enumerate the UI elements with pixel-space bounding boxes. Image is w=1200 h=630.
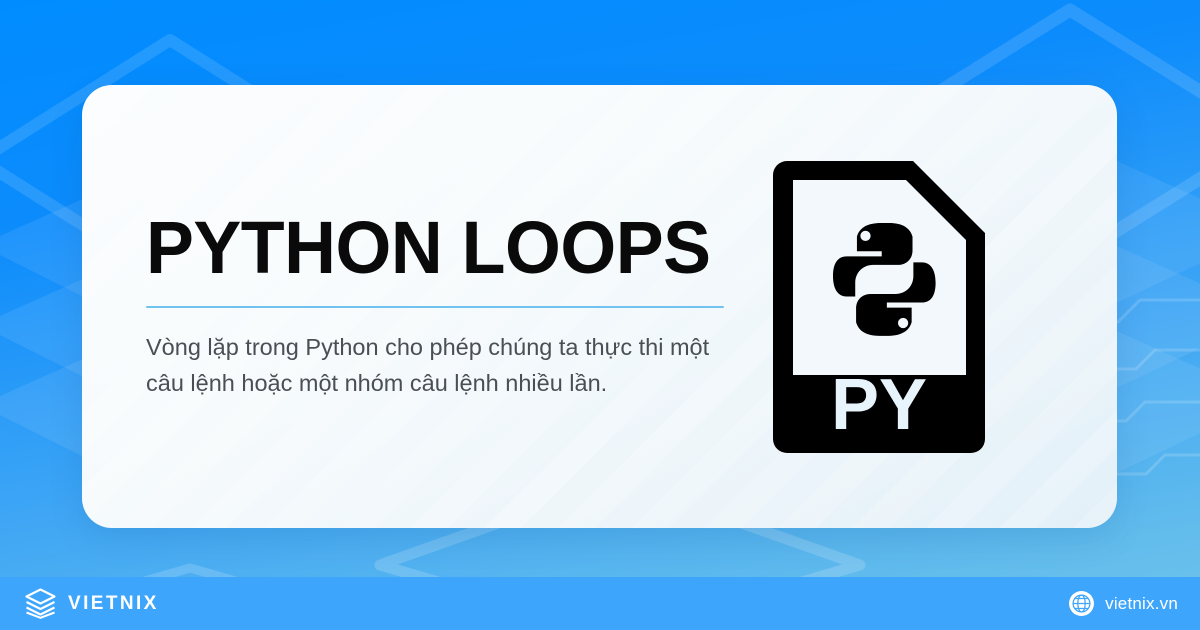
- brand-name: VIETNIX: [68, 593, 159, 615]
- text-column: PYTHON LOOPS Vòng lặp trong Python cho p…: [82, 212, 682, 401]
- banner-canvas: PYTHON LOOPS Vòng lặp trong Python cho p…: [0, 0, 1200, 630]
- site-url: vietnix.vn: [1105, 594, 1178, 614]
- page-subtitle: Vòng lặp trong Python cho phép chúng ta …: [146, 330, 726, 401]
- site-link[interactable]: vietnix.vn: [1069, 591, 1178, 616]
- brand-block[interactable]: VIETNIX: [24, 587, 159, 620]
- py-icon-label: PY: [830, 365, 926, 445]
- footer-bar: VIETNIX vietnix.vn: [0, 577, 1200, 630]
- content-card: PYTHON LOOPS Vòng lặp trong Python cho p…: [82, 85, 1117, 528]
- title-divider: [146, 306, 724, 308]
- icon-column: PY: [682, 161, 1117, 453]
- py-file-icon: PY: [773, 161, 985, 453]
- page-title: PYTHON LOOPS: [146, 212, 666, 283]
- vietnix-layers-logo: [24, 587, 57, 620]
- globe-icon: [1069, 591, 1094, 616]
